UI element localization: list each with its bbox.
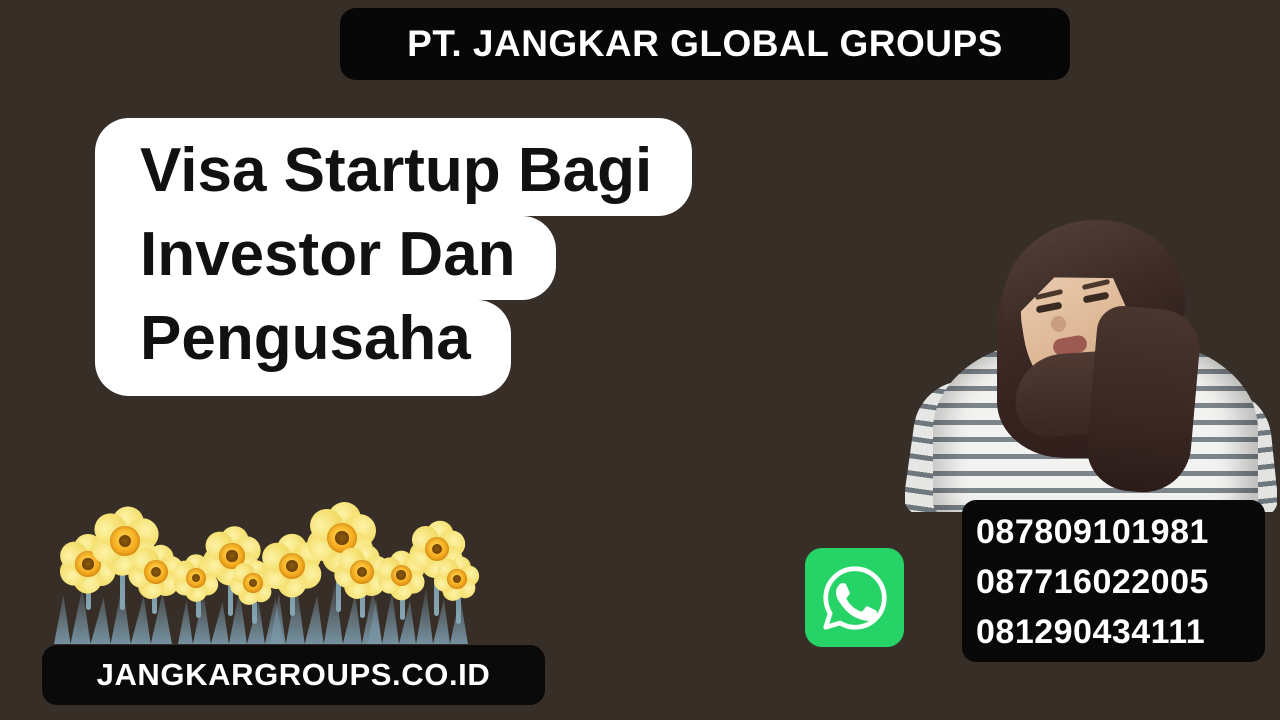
presenter-photo [905, 212, 1277, 512]
daffodil-flower [434, 556, 480, 602]
company-name-label: PT. JANGKAR GLOBAL GROUPS [407, 23, 1003, 65]
company-name-badge: PT. JANGKAR GLOBAL GROUPS [340, 8, 1070, 80]
page-title-line-2: Investor Dan [95, 216, 556, 300]
page-title: Visa Startup Bagi Investor Dan Pengusaha [95, 118, 885, 396]
flower-center [350, 560, 374, 584]
flower-center [144, 560, 168, 584]
presenter-hijab-drape [1083, 304, 1203, 496]
phone-number-1[interactable]: 087809101981 [976, 507, 1265, 557]
whatsapp-icon[interactable] [805, 548, 904, 647]
page-title-line-1: Visa Startup Bagi [95, 118, 692, 216]
phone-number-2[interactable]: 087716022005 [976, 557, 1265, 607]
phone-number-3[interactable]: 081290434111 [976, 607, 1265, 657]
poster-canvas: PT. JANGKAR GLOBAL GROUPS Visa Startup B… [0, 0, 1280, 720]
page-title-line-3: Pengusaha [95, 300, 511, 396]
website-label: JANGKARGROUPS.CO.ID [97, 657, 491, 693]
flower-center [447, 569, 466, 588]
daffodil-flowers-decoration [48, 498, 468, 646]
website-badge[interactable]: JANGKARGROUPS.CO.ID [42, 645, 545, 705]
phone-numbers-box: 087809101981 087716022005 081290434111 [962, 500, 1265, 662]
